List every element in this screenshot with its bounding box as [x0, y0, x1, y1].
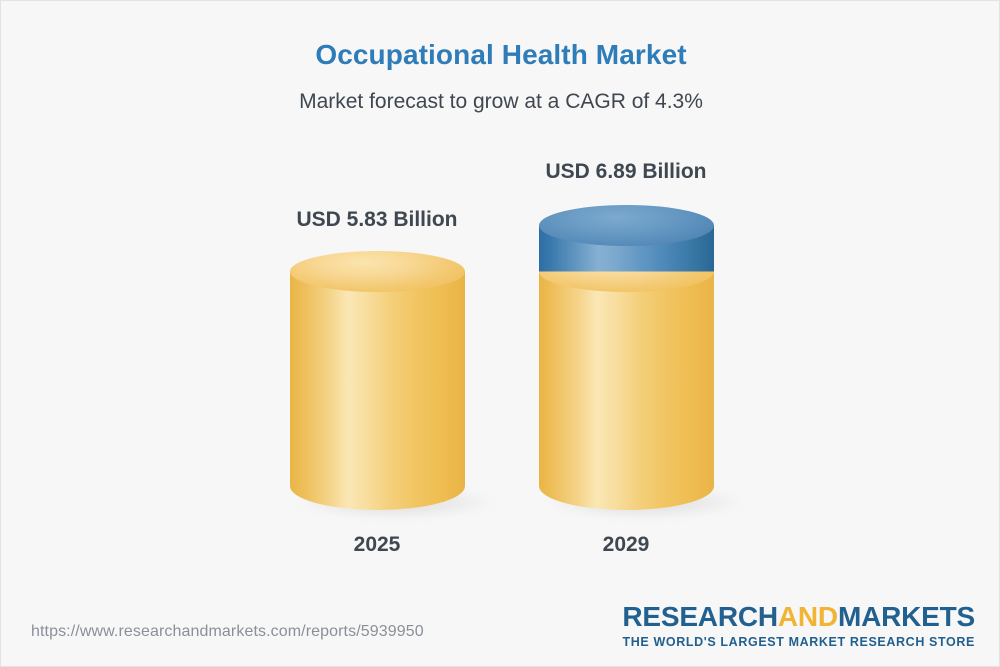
cylinder-cap-base-2025: [290, 251, 465, 292]
brand-word-markets: MARKETS: [838, 603, 975, 631]
brand-word-and: AND: [778, 603, 838, 631]
cylinder-2025[interactable]: [290, 251, 465, 510]
cylinder-body-base-2029: [539, 271, 714, 510]
chart-canvas: Occupational Health Market Market foreca…: [0, 0, 1000, 667]
bar-value-label-2029: USD 6.89 Billion: [466, 160, 786, 184]
bar-category-label-2029: 2029: [466, 533, 786, 557]
brand-tagline: THE WORLD'S LARGEST MARKET RESEARCH STOR…: [622, 636, 975, 649]
brand-logo-wordmark: RESEARCH AND MARKETS: [622, 603, 975, 631]
cylinder-cap-growth-2029: [539, 205, 714, 246]
source-url[interactable]: https://www.researchandmarkets.com/repor…: [31, 623, 424, 641]
plot-area: USD 5.83 Billion 2025 USD 6.89 Billion: [1, 1, 1000, 601]
bar-value-label-2025: USD 5.83 Billion: [217, 208, 537, 232]
brand-word-research: RESEARCH: [622, 603, 778, 631]
cylinder-2029[interactable]: [539, 205, 714, 510]
brand-logo[interactable]: RESEARCH AND MARKETS THE WORLD'S LARGEST…: [622, 603, 975, 649]
cylinder-body-base-2025: [290, 271, 465, 510]
